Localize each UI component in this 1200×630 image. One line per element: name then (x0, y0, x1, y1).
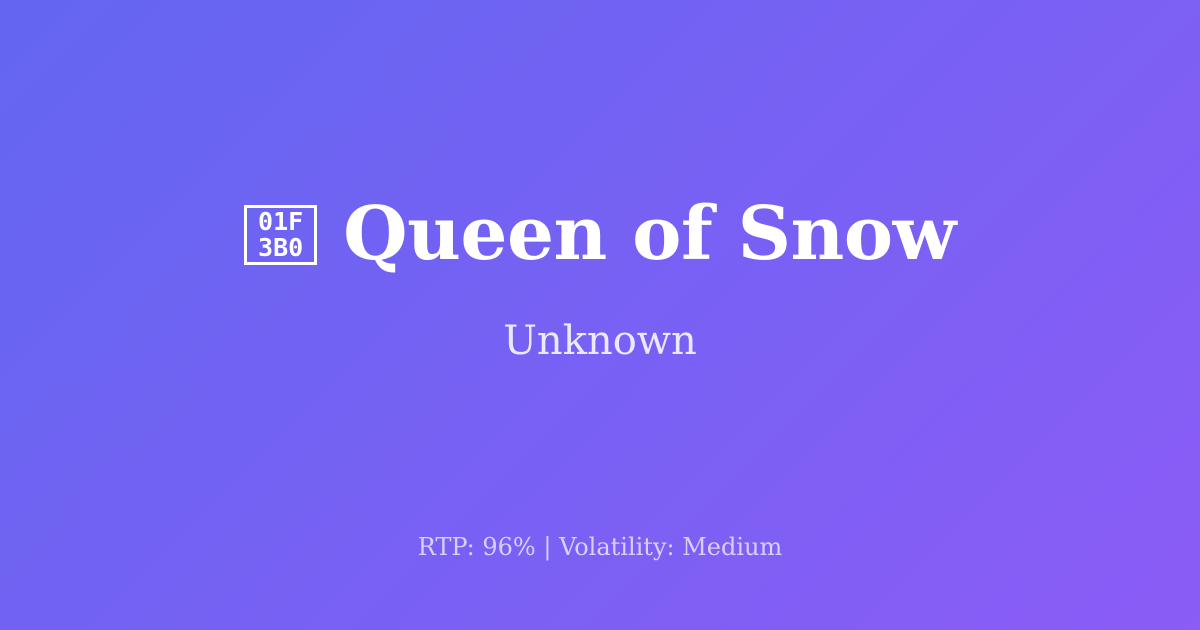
provider-label: Unknown (503, 317, 697, 365)
hero-block: 01F 3B0 Queen of Snow Unknown (0, 197, 1200, 364)
game-meta-line: RTP: 96% | Volatility: Medium (0, 532, 1200, 562)
og-share-card: 01F 3B0 Queen of Snow Unknown RTP: 96% |… (0, 0, 1200, 630)
title-row: 01F 3B0 Queen of Snow (60, 197, 1140, 272)
glyph-hex-bottom: 3B0 (258, 235, 303, 261)
slot-machine-icon: 01F 3B0 (244, 205, 317, 265)
glyph-hex-top: 01F (258, 209, 303, 235)
page-title: Queen of Snow (343, 197, 956, 272)
